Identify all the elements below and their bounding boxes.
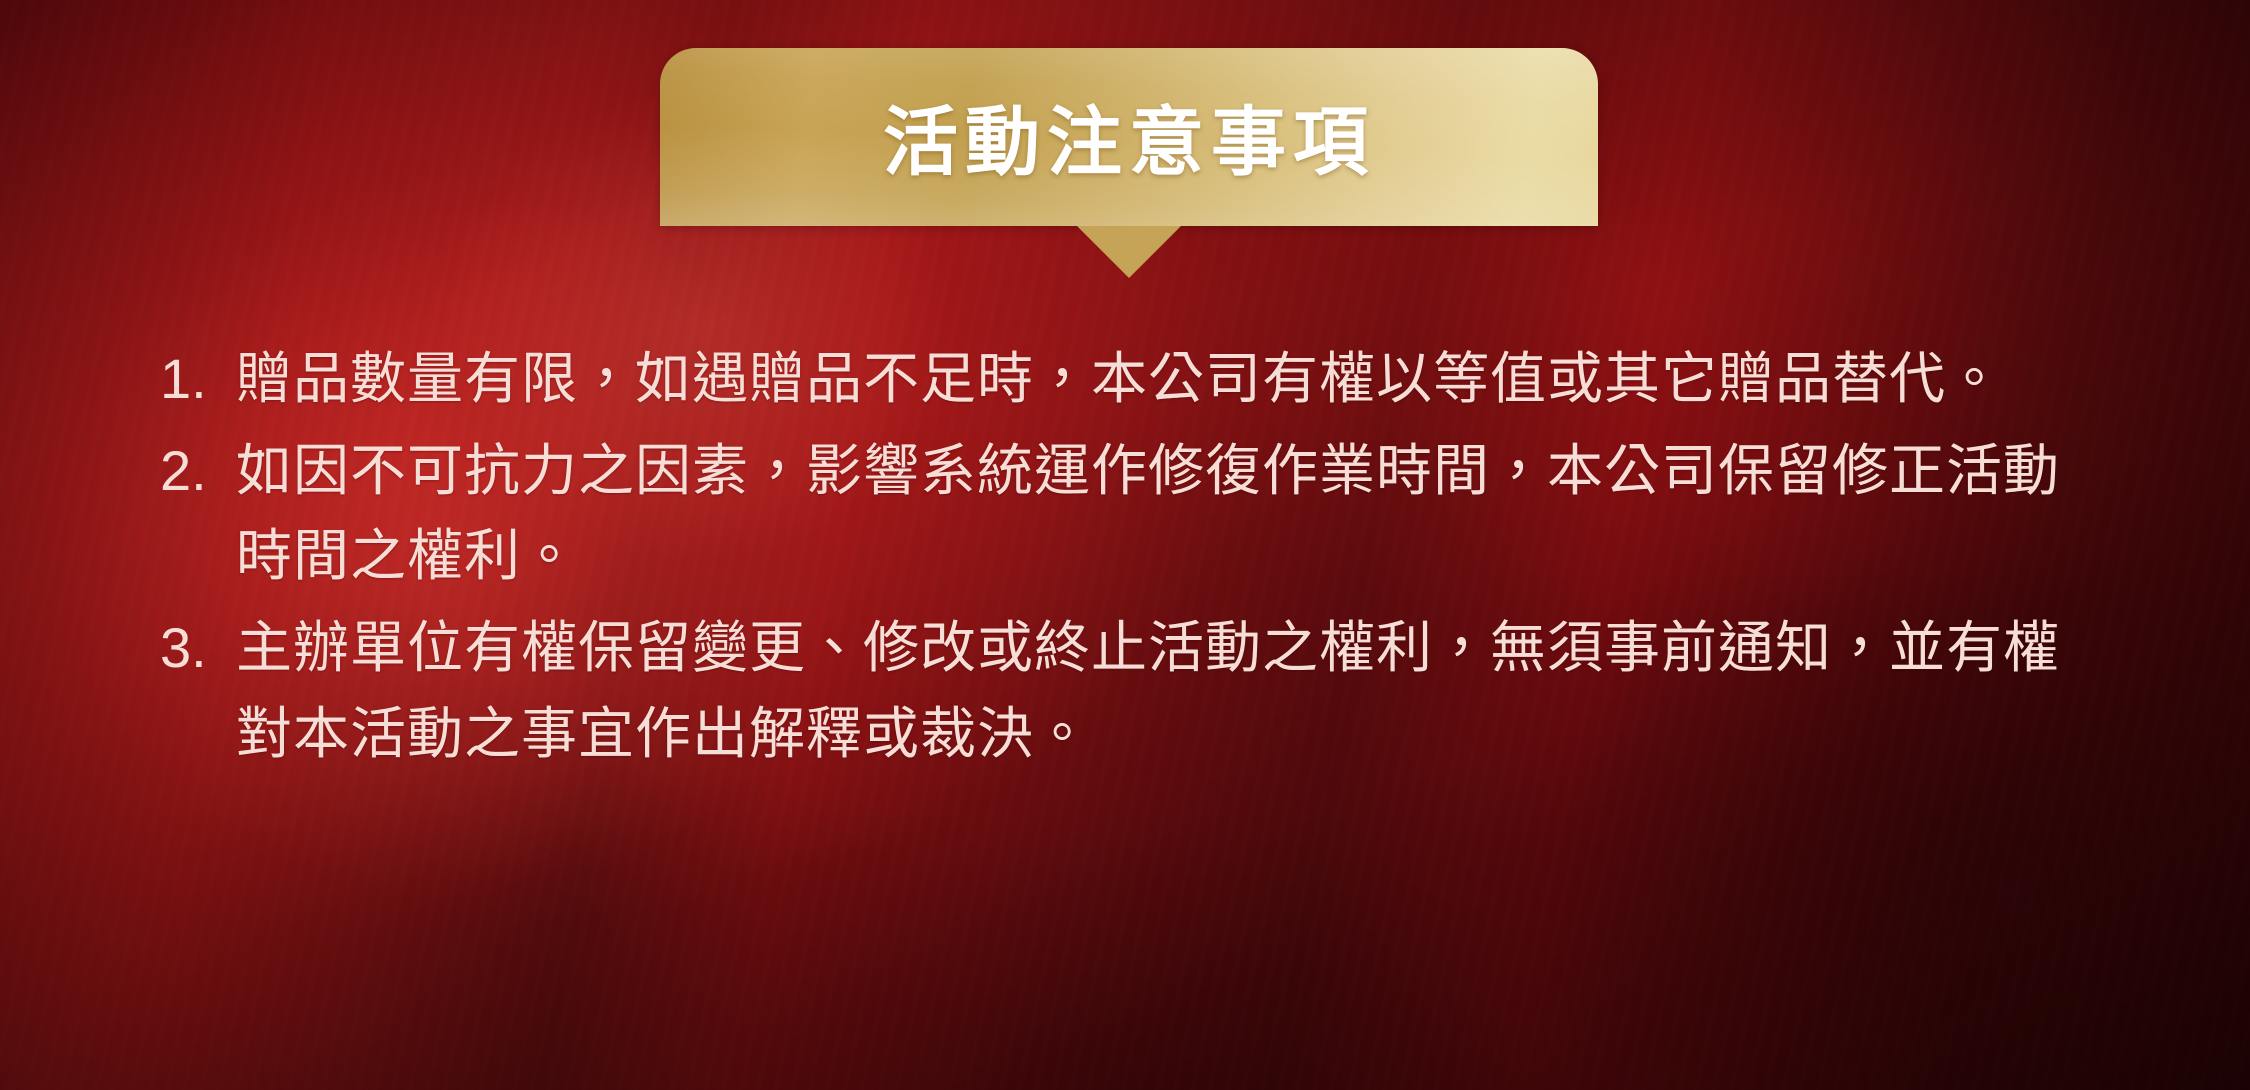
list-item: 1. 贈品數量有限，如遇贈品不足時，本公司有權以等值或其它贈品替代。 (160, 336, 2090, 422)
ribbon-pointer-icon (1077, 226, 1181, 278)
list-item: 3. 主辦單位有權保留變更、修改或終止活動之權利，無須事前通知，並有權對本活動之… (160, 605, 2090, 776)
promo-notice-banner: 活動注意事項 1. 贈品數量有限，如遇贈品不足時，本公司有權以等值或其它贈品替代… (0, 0, 2250, 1090)
terms-list: 1. 贈品數量有限，如遇贈品不足時，本公司有權以等值或其它贈品替代。 2. 如因… (160, 336, 2090, 782)
page-title: 活動注意事項 (660, 48, 1598, 226)
list-item-text: 主辦單位有權保留變更、修改或終止活動之權利，無須事前通知，並有權對本活動之事宜作… (236, 605, 2090, 776)
list-item-number: 2. (160, 428, 236, 514)
header-ribbon: 活動注意事項 (660, 48, 1598, 226)
list-item-number: 1. (160, 336, 236, 422)
list-item: 2. 如因不可抗力之因素，影響系統運作修復作業時間，本公司保留修正活動時間之權利… (160, 428, 2090, 599)
list-item-text: 贈品數量有限，如遇贈品不足時，本公司有權以等值或其它贈品替代。 (236, 336, 2090, 422)
list-item-number: 3. (160, 605, 236, 691)
list-item-text: 如因不可抗力之因素，影響系統運作修復作業時間，本公司保留修正活動時間之權利。 (236, 428, 2090, 599)
